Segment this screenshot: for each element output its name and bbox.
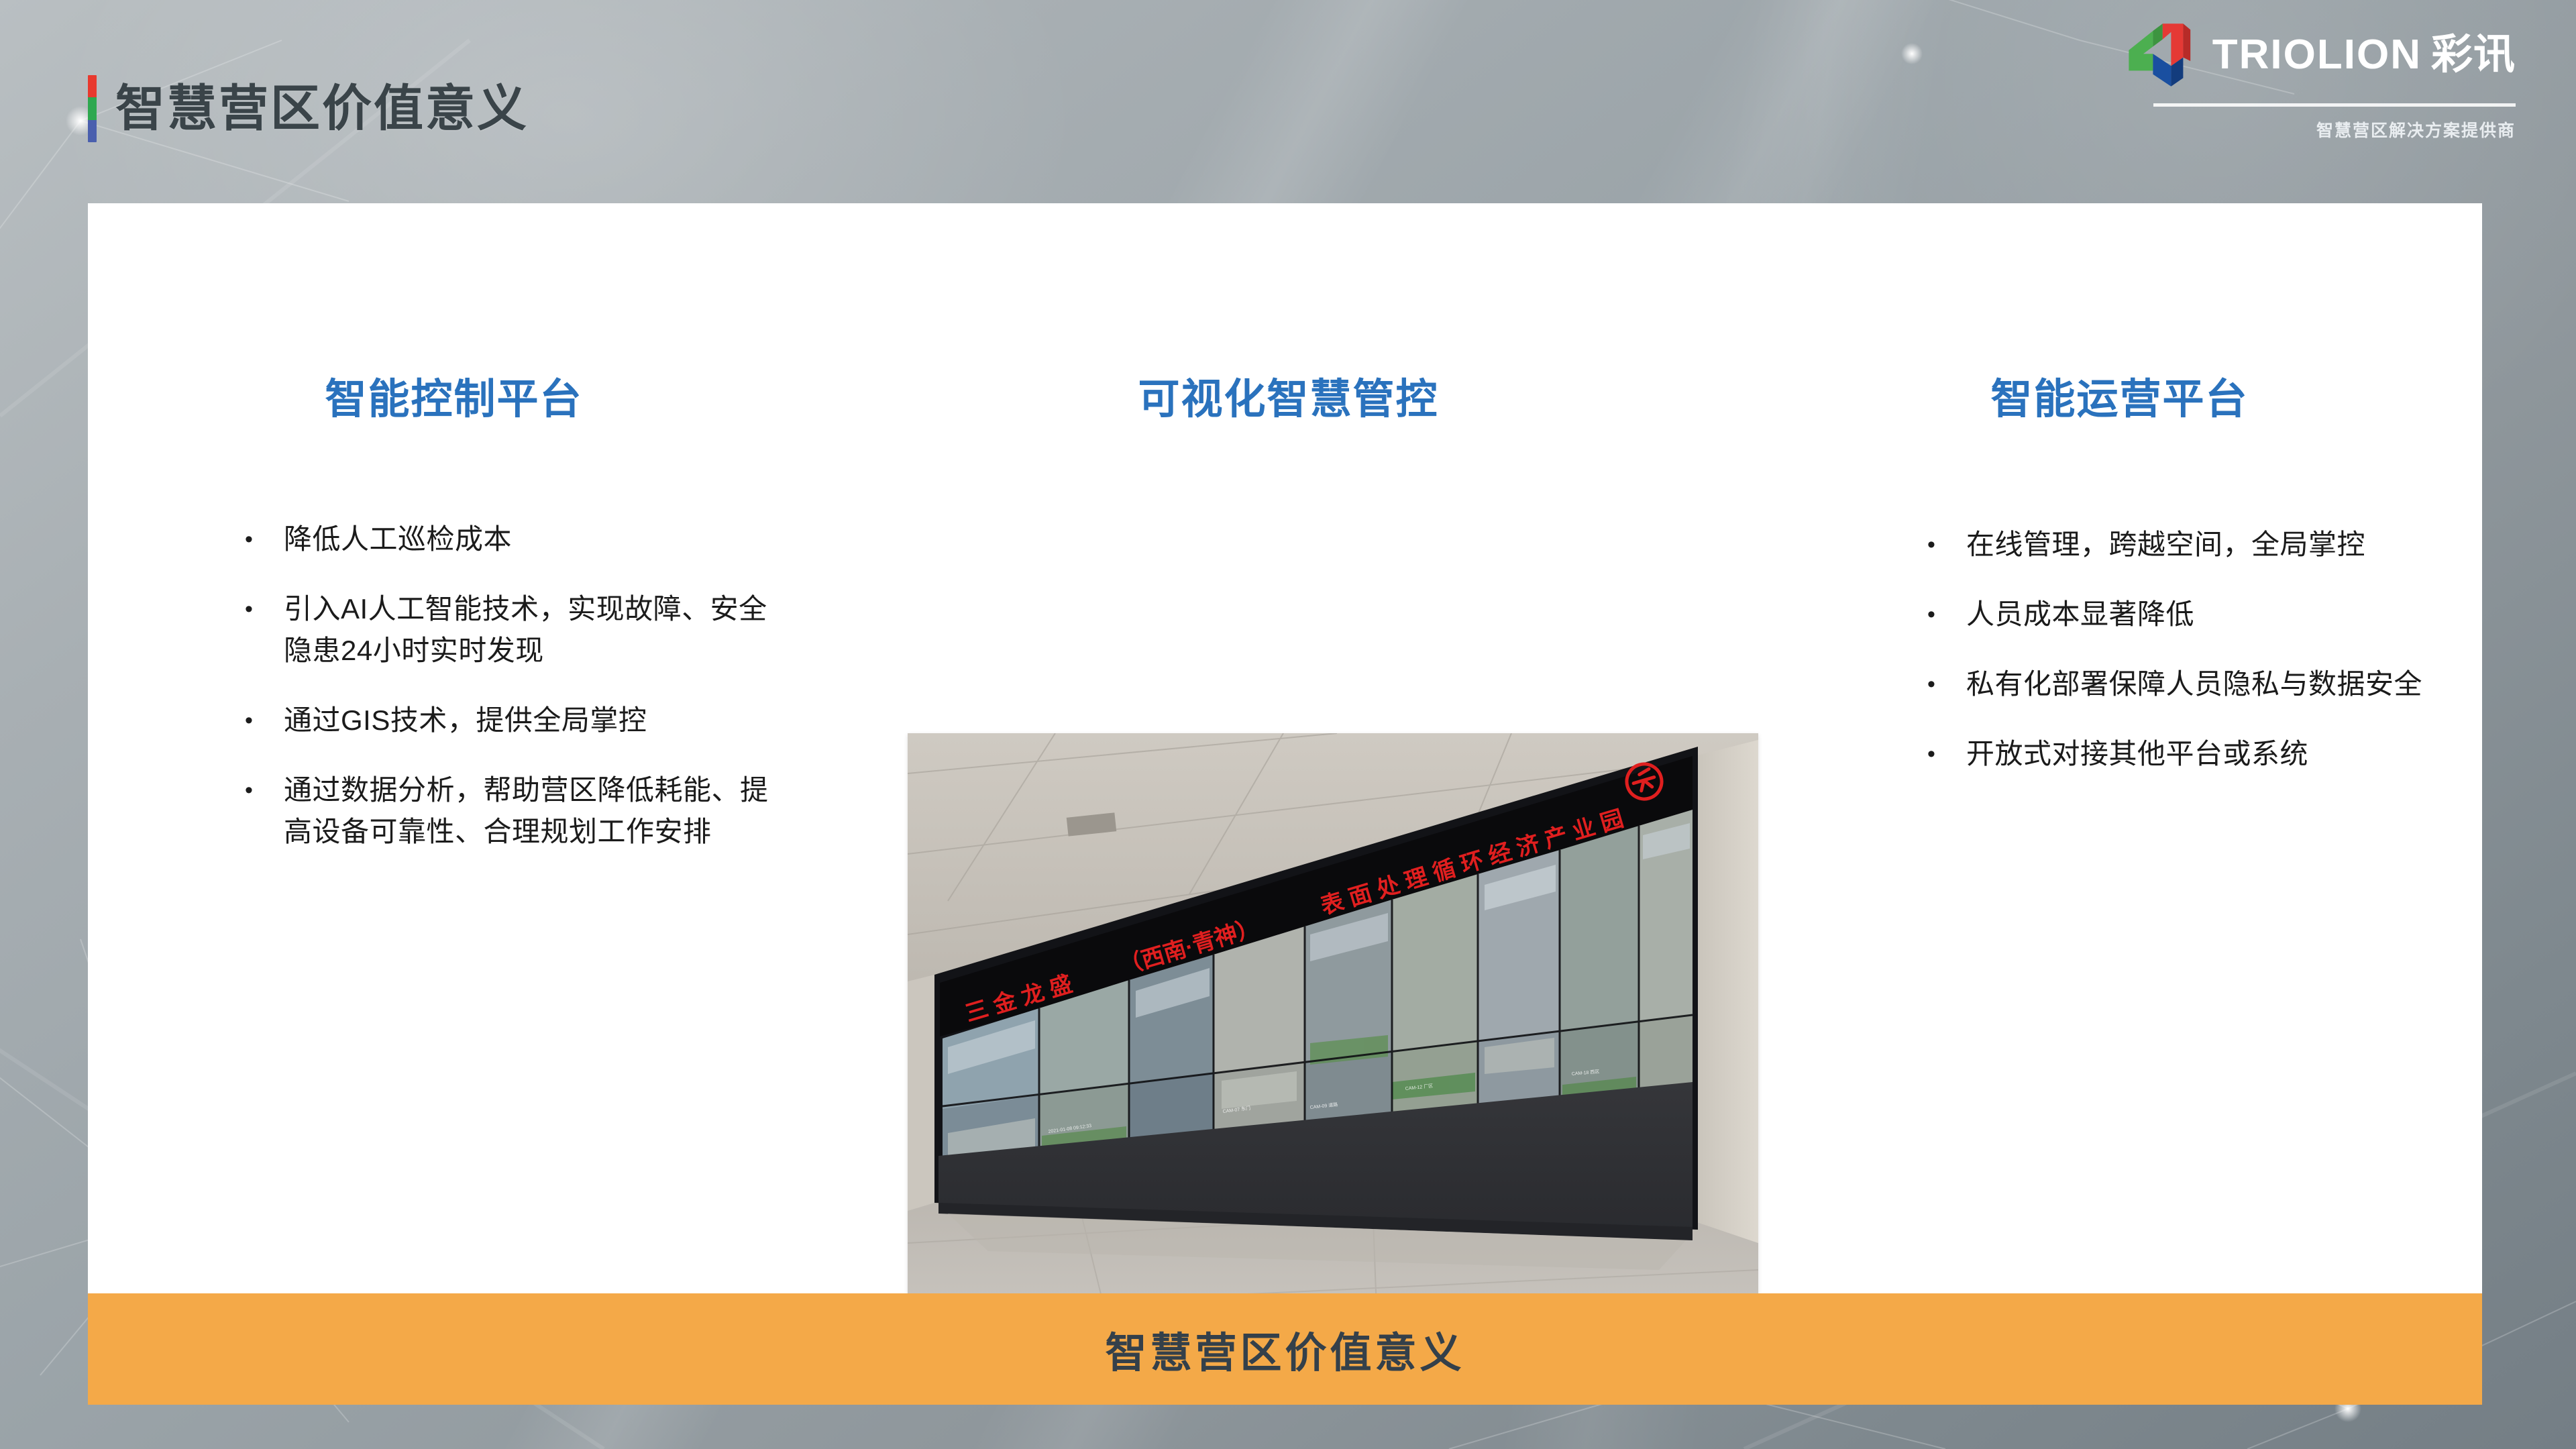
list-item: • 通过数据分析，帮助营区降低耗能、提高设备可靠性、合理规划工作安排 xyxy=(242,769,780,853)
column-heading-right: 智能运营平台 xyxy=(1757,379,2482,421)
column-heading-center: 可视化智慧管控 xyxy=(820,379,1757,421)
logo-wordmark-cn: 彩讯 xyxy=(2431,34,2516,76)
bullet-list-right: • 在线管理，跨越空间，全局掌控 • 人员成本显著降低 • 私有化部署保障人员隐… xyxy=(1925,524,2455,775)
list-item: • 人员成本显著降低 xyxy=(1925,594,2455,635)
footer-banner: 智慧营区价值意义 xyxy=(88,1293,2482,1405)
list-item: • 通过GIS技术，提供全局掌控 xyxy=(242,700,780,741)
triolion-logo-mark xyxy=(2125,19,2198,91)
list-item: • 私有化部署保障人员隐私与数据安全 xyxy=(1925,663,2455,705)
control-room-video-wall-photo: 三 金 龙 盛 （西南·青神） 表 面 处 理 循 环 经 济 产 业 园 xyxy=(908,733,1758,1327)
bullet-text: 引入AI人工智能技术，实现故障、安全隐患24小时实时发现 xyxy=(284,588,780,672)
bullet-dot-icon: • xyxy=(1925,733,1966,775)
accent-segment-blue xyxy=(88,120,97,142)
bullet-list-left: • 降低人工巡检成本 • 引入AI人工智能技术，实现故障、安全隐患24小时实时发… xyxy=(242,519,780,853)
bullet-text: 降低人工巡检成本 xyxy=(284,519,512,560)
logo-tagline: 智慧营区解决方案提供商 xyxy=(2316,117,2516,142)
bullet-text: 在线管理，跨越空间，全局掌控 xyxy=(1966,524,2365,566)
logo-wordmark: TRIOLION xyxy=(2212,34,2422,76)
column-intelligent-operation-platform: 智能运营平台 • 在线管理，跨越空间，全局掌控 • 人员成本显著降低 • 私有化… xyxy=(1757,203,2482,1293)
bullet-dot-icon: • xyxy=(242,588,284,630)
content-card: 智能控制平台 • 降低人工巡检成本 • 引入AI人工智能技术，实现故障、安全隐患… xyxy=(88,203,2482,1293)
bullet-dot-icon: • xyxy=(242,769,284,811)
list-item: • 引入AI人工智能技术，实现故障、安全隐患24小时实时发现 xyxy=(242,588,780,672)
bullet-text: 通过数据分析，帮助营区降低耗能、提高设备可靠性、合理规划工作安排 xyxy=(284,769,780,853)
accent-segment-green xyxy=(88,97,97,119)
bullet-text: 私有化部署保障人员隐私与数据安全 xyxy=(1966,663,2422,705)
list-item: • 开放式对接其他平台或系统 xyxy=(1925,733,2455,775)
bullet-text: 人员成本显著降低 xyxy=(1966,594,2194,635)
bullet-text: 开放式对接其他平台或系统 xyxy=(1966,733,2308,775)
bullet-dot-icon: • xyxy=(242,700,284,741)
column-intelligent-control-platform: 智能控制平台 • 降低人工巡检成本 • 引入AI人工智能技术，实现故障、安全隐患… xyxy=(88,203,820,1293)
accent-segment-red xyxy=(88,75,97,97)
bullet-dot-icon: • xyxy=(1925,524,1966,566)
logo-divider-rule xyxy=(2153,103,2516,107)
tricolor-accent-bar xyxy=(88,75,97,142)
bullet-dot-icon: • xyxy=(1925,663,1966,705)
list-item: • 在线管理，跨越空间，全局掌控 xyxy=(1925,524,2455,566)
bullet-dot-icon: • xyxy=(242,519,284,560)
bullet-text: 通过GIS技术，提供全局掌控 xyxy=(284,700,647,741)
page-title: 智慧营区价值意义 xyxy=(115,75,529,142)
footer-banner-text: 智慧营区价值意义 xyxy=(1105,1319,1464,1379)
list-item: • 降低人工巡检成本 xyxy=(242,519,780,560)
bullet-dot-icon: • xyxy=(1925,594,1966,635)
brand-logo-block: TRIOLION 彩讯 智慧营区解决方案提供商 xyxy=(2100,19,2516,142)
photo-illustration: 三 金 龙 盛 （西南·青神） 表 面 处 理 循 环 经 济 产 业 园 xyxy=(908,733,1758,1327)
page-header: 智慧营区价值意义 xyxy=(88,75,529,142)
slide-root: 智慧营区价值意义 TRIOLION 彩讯 智慧营区解决方案提供商 xyxy=(0,0,2576,1449)
column-heading-left: 智能控制平台 xyxy=(88,379,820,421)
